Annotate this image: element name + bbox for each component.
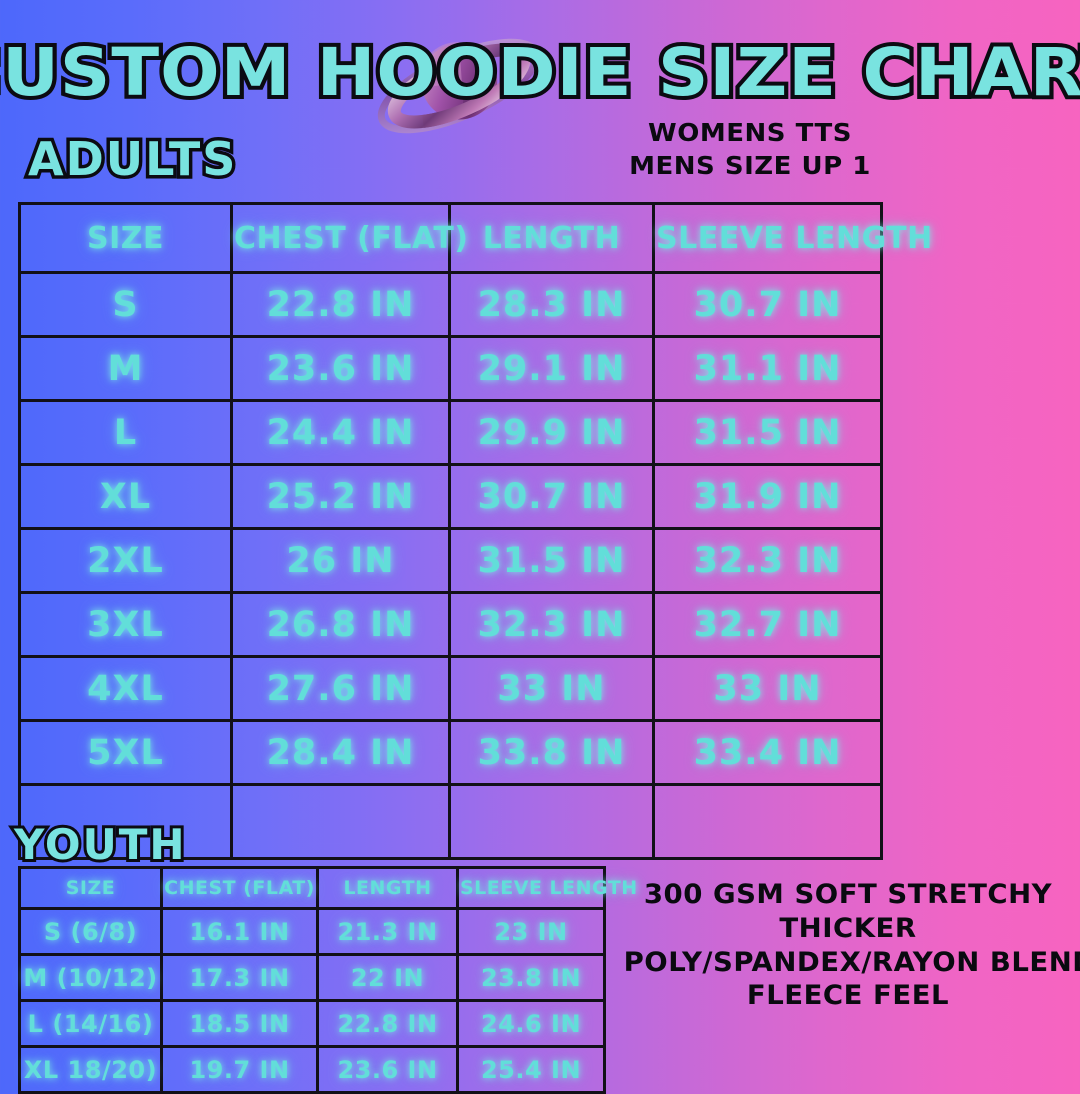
cell-sleeve: 24.6 IN — [458, 1001, 605, 1047]
adults-size-table: SIZE CHEST (FLAT) LENGTH SLEEVE LENGTH S… — [18, 202, 883, 860]
cell-sleeve: 33 IN — [654, 657, 882, 721]
cell-size: 4XL — [20, 657, 232, 721]
cell-chest: 28.4 IN — [232, 721, 450, 785]
cell-size: 2XL — [20, 529, 232, 593]
cell-length: 21.3 IN — [318, 909, 458, 955]
cell-size: M — [20, 337, 232, 401]
cell-length: 22 IN — [318, 955, 458, 1001]
cell-length — [450, 785, 654, 859]
cell-chest: 27.6 IN — [232, 657, 450, 721]
cell-size: XL 18/20) — [20, 1047, 162, 1093]
fit-note-line-2: MENS SIZE UP 1 — [584, 149, 917, 182]
table-header-row: SIZE CHEST (FLAT) LENGTH SLEEVE LENGTH — [20, 204, 882, 273]
cell-chest: 22.8 IN — [232, 273, 450, 337]
fabric-note: 300 GSM SOFT STRETCHY THICKER POLY/SPAND… — [624, 878, 1073, 1013]
cell-chest: 25.2 IN — [232, 465, 450, 529]
cell-length: 23.6 IN — [318, 1047, 458, 1093]
table-row: L (14/16) 18.5 IN 22.8 IN 24.6 IN — [20, 1001, 605, 1047]
cell-chest: 17.3 IN — [162, 955, 318, 1001]
cell-chest — [232, 785, 450, 859]
table-row: M (10/12) 17.3 IN 22 IN 23.8 IN — [20, 955, 605, 1001]
adults-section-heading: ADULTS — [28, 132, 237, 186]
cell-length: 33.8 IN — [450, 721, 654, 785]
table-header-row: SIZE CHEST (FLAT) LENGTH SLEEVE LENGTH — [20, 868, 605, 909]
table-row: XL 25.2 IN 30.7 IN 31.9 IN — [20, 465, 882, 529]
column-header-length: LENGTH — [450, 204, 654, 273]
cell-chest: 16.1 IN — [162, 909, 318, 955]
cell-length: 28.3 IN — [450, 273, 654, 337]
cell-length: 29.9 IN — [450, 401, 654, 465]
column-header-chest: CHEST (FLAT) — [232, 204, 450, 273]
cell-sleeve: 23.8 IN — [458, 955, 605, 1001]
table-row: 3XL 26.8 IN 32.3 IN 32.7 IN — [20, 593, 882, 657]
cell-size: L (14/16) — [20, 1001, 162, 1047]
cell-size: 3XL — [20, 593, 232, 657]
cell-sleeve: 25.4 IN — [458, 1047, 605, 1093]
fabric-note-line-2: THICKER — [624, 912, 1073, 946]
youth-size-table: SIZE CHEST (FLAT) LENGTH SLEEVE LENGTH S… — [18, 866, 606, 1094]
column-header-sleeve-length: SLEEVE LENGTH — [654, 204, 882, 273]
column-header-length: LENGTH — [318, 868, 458, 909]
table-row: M 23.6 IN 29.1 IN 31.1 IN — [20, 337, 882, 401]
fabric-note-line-1: 300 GSM SOFT STRETCHY — [624, 878, 1073, 912]
fabric-note-line-3: POLY/SPANDEX/RAYON BLEND — [624, 946, 1073, 980]
cell-size: S — [20, 273, 232, 337]
cell-length: 29.1 IN — [450, 337, 654, 401]
table-row: L 24.4 IN 29.9 IN 31.5 IN — [20, 401, 882, 465]
fabric-note-line-4: FLEECE FEEL — [624, 979, 1073, 1013]
cell-sleeve: 31.5 IN — [654, 401, 882, 465]
cell-chest: 26.8 IN — [232, 593, 450, 657]
cell-sleeve: 23 IN — [458, 909, 605, 955]
cell-size: S (6/8) — [20, 909, 162, 955]
cell-chest: 24.4 IN — [232, 401, 450, 465]
cell-sleeve: 31.1 IN — [654, 337, 882, 401]
column-header-chest: CHEST (FLAT) — [162, 868, 318, 909]
column-header-size: SIZE — [20, 868, 162, 909]
cell-chest: 19.7 IN — [162, 1047, 318, 1093]
cell-chest: 18.5 IN — [162, 1001, 318, 1047]
cell-length: 32.3 IN — [450, 593, 654, 657]
fit-note: WOMENS TTS MENS SIZE UP 1 — [584, 116, 917, 182]
fit-note-line-1: WOMENS TTS — [584, 116, 917, 149]
cell-size: M (10/12) — [20, 955, 162, 1001]
cell-size: XL — [20, 465, 232, 529]
cell-length: 22.8 IN — [318, 1001, 458, 1047]
table-row: 4XL 27.6 IN 33 IN 33 IN — [20, 657, 882, 721]
page-title: CUSTOM HOODIE SIZE CHART — [0, 34, 1080, 111]
cell-size: 5XL — [20, 721, 232, 785]
table-row: 2XL 26 IN 31.5 IN 32.3 IN — [20, 529, 882, 593]
cell-chest: 26 IN — [232, 529, 450, 593]
column-header-sleeve-length: SLEEVE LENGTH — [458, 868, 605, 909]
cell-length: 30.7 IN — [450, 465, 654, 529]
cell-sleeve — [654, 785, 882, 859]
cell-chest: 23.6 IN — [232, 337, 450, 401]
cell-length: 33 IN — [450, 657, 654, 721]
table-row: S (6/8) 16.1 IN 21.3 IN 23 IN — [20, 909, 605, 955]
cell-sleeve: 32.7 IN — [654, 593, 882, 657]
table-row: 5XL 28.4 IN 33.8 IN 33.4 IN — [20, 721, 882, 785]
cell-sleeve: 33.4 IN — [654, 721, 882, 785]
cell-sleeve: 32.3 IN — [654, 529, 882, 593]
cell-size: L — [20, 401, 232, 465]
youth-section-heading: YOUTH — [14, 820, 187, 869]
table-row: XL 18/20) 19.7 IN 23.6 IN 25.4 IN — [20, 1047, 605, 1093]
cell-sleeve: 30.7 IN — [654, 273, 882, 337]
cell-sleeve: 31.9 IN — [654, 465, 882, 529]
column-header-size: SIZE — [20, 204, 232, 273]
cell-length: 31.5 IN — [450, 529, 654, 593]
table-row: S 22.8 IN 28.3 IN 30.7 IN — [20, 273, 882, 337]
size-chart-canvas: CUSTOM HOODIE SIZE CHART WOMENS TTS MENS… — [0, 0, 1080, 1080]
